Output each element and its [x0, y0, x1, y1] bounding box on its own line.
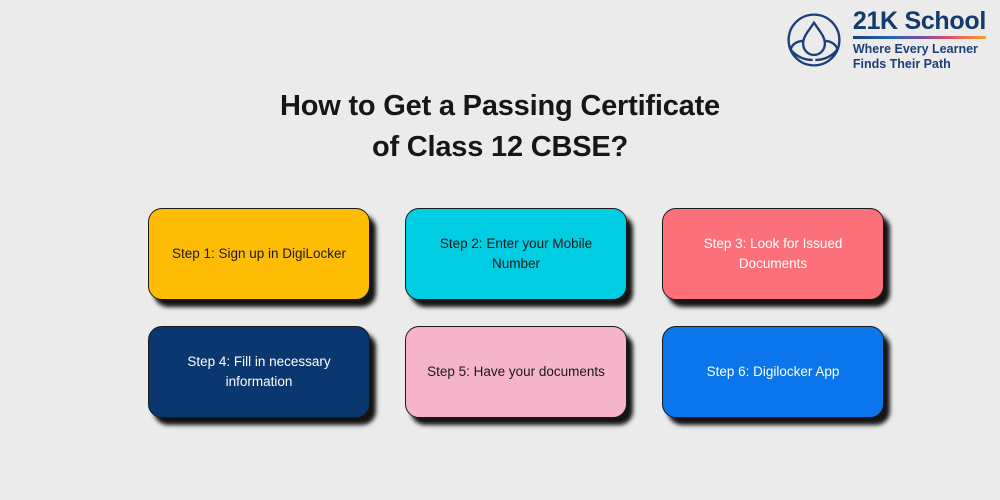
step-box-5[interactable]: Step 5: Have your documents [405, 326, 627, 418]
step-box-2-label: Step 2: Enter your Mobile Number [422, 234, 610, 275]
logo-name: 21K School [853, 8, 986, 34]
logo-wordmark: 21K School Where Every Learner Finds The… [853, 8, 986, 72]
page-title-line1: How to Get a Passing Certificate [0, 86, 1000, 127]
step-box-6-label: Step 6: Digilocker App [707, 362, 840, 382]
brand-logo: 21K School Where Every Learner Finds The… [785, 8, 986, 72]
step-box-1-label: Step 1: Sign up in DigiLocker [172, 244, 346, 264]
logo-gradient-rule [853, 36, 986, 39]
step-box-4-label: Step 4: Fill in necessary information [165, 352, 353, 393]
page-title: How to Get a Passing Certificate of Clas… [0, 86, 1000, 168]
step-box-1[interactable]: Step 1: Sign up in DigiLocker [148, 208, 370, 300]
lotus-circle-emblem [785, 11, 843, 69]
step-box-3-label: Step 3: Look for Issued Documents [679, 234, 867, 275]
page-title-line2: of Class 12 CBSE? [0, 127, 1000, 168]
logo-tagline: Where Every Learner Finds Their Path [853, 42, 978, 72]
step-box-3[interactable]: Step 3: Look for Issued Documents [662, 208, 884, 300]
step-box-2[interactable]: Step 2: Enter your Mobile Number [405, 208, 627, 300]
step-box-6[interactable]: Step 6: Digilocker App [662, 326, 884, 418]
step-box-5-label: Step 5: Have your documents [427, 362, 605, 382]
logo-tagline-line1: Where Every Learner [853, 42, 978, 57]
steps-grid: Step 1: Sign up in DigiLocker Step 2: En… [148, 208, 888, 418]
step-box-4[interactable]: Step 4: Fill in necessary information [148, 326, 370, 418]
logo-tagline-line2: Finds Their Path [853, 57, 978, 72]
